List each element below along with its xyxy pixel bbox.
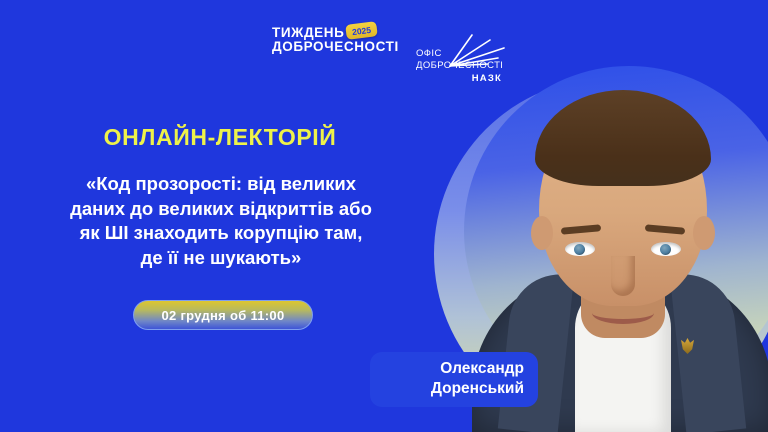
- page-title: ОНЛАЙН-ЛЕКТОРІЙ: [0, 124, 440, 151]
- datetime-text: 02 грудня об 11:00: [162, 308, 285, 323]
- eye-left: [565, 242, 595, 256]
- speaker-last-name: Доренський: [386, 379, 524, 399]
- logo-office-line2: ДОБРОЧЕСНОСТІ: [416, 60, 506, 72]
- logo-integrity-office: ОФІС ДОБРОЧЕСНОСТІ НАЗК: [416, 48, 506, 84]
- logo-office-line3: НАЗК: [416, 73, 506, 84]
- speaker-first-name: Олександр: [386, 359, 524, 379]
- subject-line-3: як ШІ знаходить корупцію там,: [14, 221, 428, 246]
- datetime-badge: 02 грудня об 11:00: [133, 300, 313, 330]
- ear-left: [531, 216, 553, 250]
- logo-integrity-week: ТИЖДЕНЬ ДОБРОЧЕСНОСТІ 2025: [272, 26, 399, 54]
- subject-line-2: даних до великих відкриттів або: [14, 197, 428, 222]
- lecture-subject: «Код прозорості: від великих даних до ве…: [14, 172, 428, 270]
- eye-right: [651, 242, 681, 256]
- logo-week-line1: ТИЖДЕНЬ: [272, 26, 399, 40]
- ear-right: [693, 216, 715, 250]
- header-logos: ТИЖДЕНЬ ДОБРОЧЕСНОСТІ 2025 ОФІС ДОБРОЧЕС…: [0, 22, 500, 82]
- nose: [611, 256, 635, 296]
- logo-week-line2: ДОБРОЧЕСНОСТІ: [272, 40, 399, 54]
- subject-line-1: «Код прозорості: від великих: [14, 172, 428, 197]
- logo-office-line1: ОФІС: [416, 48, 506, 60]
- speaker-name-label: Олександр Доренський: [370, 352, 538, 407]
- subject-line-4: де її не шукають»: [14, 246, 428, 271]
- eyebrow-right: [645, 224, 685, 234]
- poster-canvas: ТИЖДЕНЬ ДОБРОЧЕСНОСТІ 2025 ОФІС ДОБРОЧЕС…: [0, 0, 768, 432]
- eyebrow-left: [561, 224, 601, 234]
- mouth: [592, 302, 654, 324]
- hair: [535, 90, 711, 186]
